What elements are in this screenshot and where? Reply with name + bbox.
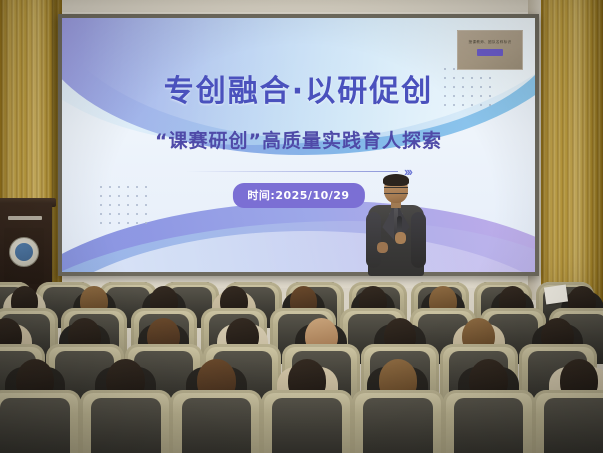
auditorium-photo: 授课教师、团队名称标识 专创融合·以研促创 “课赛研创”高质量实践育人探索 ››…: [0, 0, 603, 453]
school-emblem-icon: [9, 237, 39, 267]
auditorium-seat: [0, 390, 81, 453]
speaker-figure: [365, 176, 427, 276]
slide-corner-logo: 授课教师、团队名称标识: [457, 30, 523, 70]
audience-area: [0, 282, 603, 453]
glasses-icon: [384, 187, 408, 194]
auditorium-seat: [170, 390, 262, 453]
podium-nameplate: [8, 216, 42, 220]
speaker-arm-right: [411, 212, 426, 268]
slide-corner-logo-chip: [477, 49, 503, 56]
slide-corner-logo-text: 授课教师、团队名称标识: [458, 40, 522, 45]
speaker-hand-mic: [395, 232, 406, 244]
speaker-arm-left: [366, 212, 381, 268]
speaker-hand-free: [377, 242, 388, 253]
auditorium-seat: [352, 390, 444, 453]
slide-subtitle: “课赛研创”高质量实践育人探索: [62, 126, 535, 153]
slide-date-badge: 时间:2025/10/29: [232, 183, 364, 208]
slide-divider-row: ›››: [62, 165, 535, 178]
slide-title: 专创融合·以研促创: [62, 66, 535, 110]
projection-screen: 授课教师、团队名称标识 专创融合·以研促创 “课赛研创”高质量实践育人探索 ››…: [62, 18, 535, 272]
projection-screen-frame: 授课教师、团队名称标识 专创融合·以研促创 “课赛研创”高质量实践育人探索 ››…: [58, 14, 539, 276]
ceiling-strip: [0, 0, 603, 12]
auditorium-seat: [533, 390, 603, 453]
speaker-hair: [383, 174, 409, 186]
curtain-right: [541, 0, 603, 330]
auditorium-seat: [261, 390, 353, 453]
auditorium-seat: [80, 390, 172, 453]
auditorium-seat: [443, 390, 535, 453]
slide-divider-line: [186, 171, 398, 172]
paper-sheet: [544, 285, 568, 305]
